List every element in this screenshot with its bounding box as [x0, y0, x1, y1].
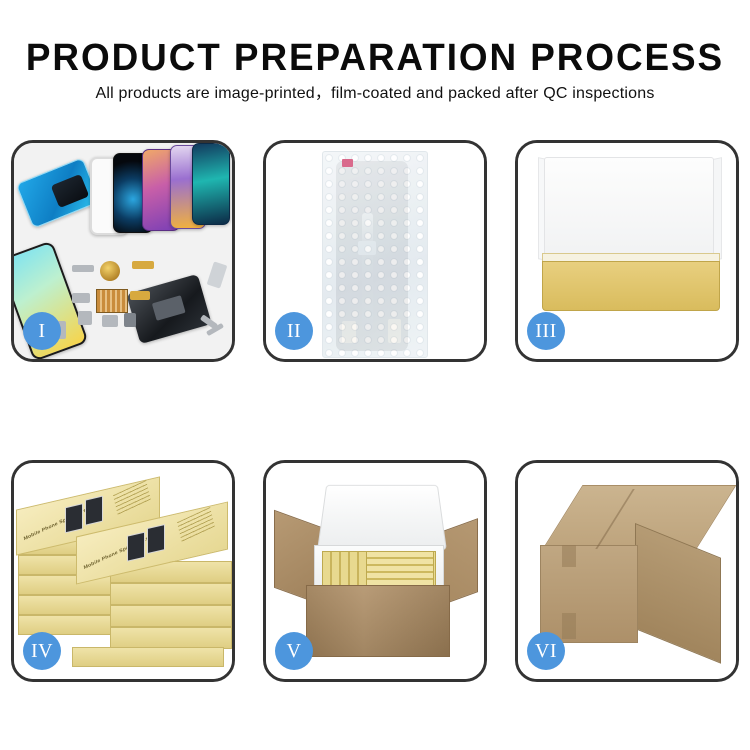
part-chip-1 — [72, 265, 94, 272]
page-header: PRODUCT PREPARATION PROCESS All products… — [0, 0, 750, 130]
stacked-box-l5 — [18, 615, 112, 635]
carton-front-face — [540, 545, 638, 643]
box-art-screen-1 — [65, 503, 83, 533]
carton-tape-lower — [562, 613, 576, 639]
step-card-v[interactable]: V — [263, 460, 487, 682]
carton-body — [306, 585, 450, 657]
part-flex-1 — [132, 261, 154, 269]
part-chip-2 — [72, 293, 90, 303]
step-card-vi[interactable]: VI — [515, 460, 739, 682]
carton-side-face — [635, 523, 721, 664]
box-kraft-body — [542, 261, 720, 311]
step-card-iii[interactable]: III — [515, 140, 739, 362]
part-flex-2 — [130, 291, 150, 300]
foam-liner-lid — [317, 485, 447, 550]
stacked-box-l4 — [18, 595, 112, 615]
part-chip-3 — [78, 311, 92, 325]
carton-tape-upper — [562, 545, 576, 567]
bubble-wrap-bag — [322, 151, 428, 358]
page-title: PRODUCT PREPARATION PROCESS — [11, 36, 739, 80]
stacked-box-bottom — [72, 647, 224, 667]
connector-grid-chip — [96, 289, 128, 313]
part-chip-4 — [102, 315, 118, 327]
box-art-screen-3 — [127, 532, 145, 562]
step-card-iv[interactable]: Mobile Phone Spare Parts Mobile Phone Sp… — [11, 460, 235, 682]
box-spec-lines-front — [177, 507, 215, 543]
speaker-coil-part — [100, 261, 120, 281]
stacked-box-r4 — [110, 627, 232, 649]
part-chip-5 — [124, 313, 136, 327]
box-spec-lines-rear — [113, 480, 151, 516]
step-card-i[interactable]: I — [11, 140, 235, 362]
step-badge-vi: VI — [527, 632, 565, 670]
stacked-box-r3 — [110, 605, 232, 627]
tool-part — [207, 261, 228, 288]
step-badge-iii: III — [527, 312, 565, 350]
gradient-phone-teal — [192, 143, 230, 225]
page-subtitle: All products are image-printed，film-coat… — [0, 83, 750, 105]
pink-qc-label — [342, 159, 353, 167]
box-art-screen-2 — [85, 496, 103, 526]
process-step-grid: I II III — [11, 140, 739, 685]
step-card-ii[interactable]: II — [263, 140, 487, 362]
step-badge-ii: II — [275, 312, 313, 350]
stacked-box-r2 — [110, 583, 232, 605]
step-badge-i: I — [23, 312, 61, 350]
step-badge-v: V — [275, 632, 313, 670]
step-badge-iv: IV — [23, 632, 61, 670]
box-art-screen-4 — [147, 524, 165, 554]
phone-back-housing — [126, 274, 211, 344]
